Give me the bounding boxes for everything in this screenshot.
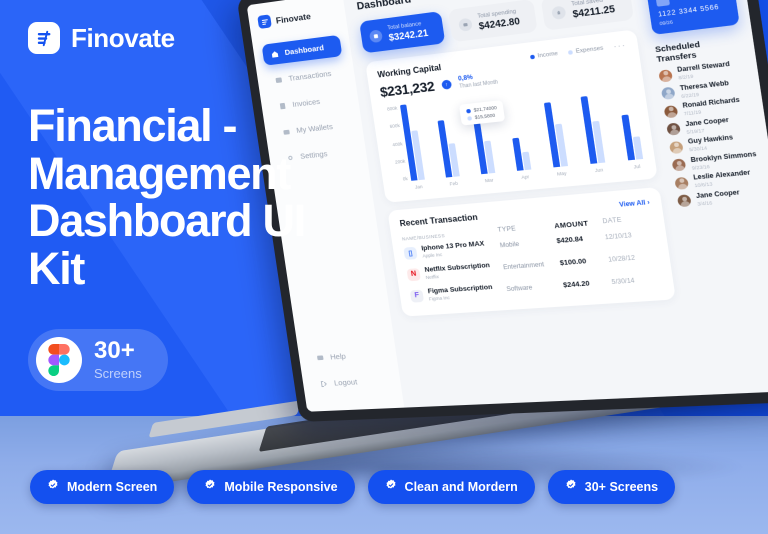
avatar [658,69,673,82]
tooltip-swatch [466,108,471,113]
y-tick: 400k [388,141,403,148]
feature-badge[interactable]: 30+ Screens [548,470,675,504]
chart-x-tick: Jan [415,184,423,190]
card-title: Working Capital [377,63,442,80]
view-all-label: View All [619,200,646,209]
chart-tooltip: $21,74000 $15,5800 [459,100,506,126]
list-item[interactable]: Jane Cooper 3/4/16 [677,187,766,208]
tooltip-row: $15,5800 [467,112,498,120]
list-item[interactable]: Guy Hawkins 5/30/14 [669,133,758,155]
dashboard-main: Dashboard [342,0,702,408]
chart-plot-area: $21,74000 $15,5800 Jan [400,79,645,191]
legend-label: Expenses [575,45,603,55]
spending-icon [458,17,473,31]
poster-stage: Finovate Dashboard Transa [0,0,768,534]
legend-item-expenses: Expenses [567,45,603,56]
card-title: Recent Transaction [399,212,478,228]
legend-swatch [530,54,535,59]
list-item[interactable]: Leslie Alexander 10/6/13 [674,169,763,190]
chart-x-tick: May [557,170,567,176]
brand-lockup: Finovate [28,22,358,54]
feature-badge-label: 30+ Screens [585,480,658,494]
feature-badge-label: Mobile Responsive [224,480,337,494]
chart-bar-group: Feb [435,100,460,178]
marketing-column: Finovate Financial - Management Dashboar… [28,22,358,391]
transaction-date: 5/30/14 [611,276,661,286]
netflix-icon: N [406,268,420,281]
feature-badge[interactable]: Mobile Responsive [187,470,354,504]
verified-badge-icon [385,478,397,496]
view-all-link[interactable]: View All › [619,199,650,208]
working-capital-amount: $231,232 [379,78,435,100]
avatar [669,140,684,153]
more-horizontal-icon[interactable]: ··· [613,40,627,51]
avatar [661,87,676,100]
finovate-logo-icon [28,22,60,54]
transaction-type: Mobile [500,238,558,249]
chart-bar-group: Apr [506,92,531,171]
verified-badge-icon [204,478,216,496]
feature-badge[interactable]: Clean and Mordern [368,470,535,504]
feature-badges: Modern Screen Mobile Responsive Clean an… [30,470,675,504]
trend-up-icon: ↑ [441,79,452,89]
chart-x-tick: Apr [521,174,529,180]
tooltip-swatch [467,116,472,121]
feature-badge-label: Modern Screen [67,480,157,494]
iphone-icon: ▯ [403,246,417,259]
avatar [677,194,692,207]
y-tick: 600k [385,123,400,130]
verified-badge-icon [47,478,59,496]
scheduled-transfers-list: Darrell Steward 8/2/19 Theresa Webb 6/22… [658,60,766,208]
transaction-type: Entertainment [503,260,561,270]
stat-card-total-saved[interactable]: Total saved $4211.25 [541,0,634,31]
figma-icon: F [410,289,424,302]
brand-name: Finovate [71,23,175,54]
avatar [672,158,687,171]
chart-bar-expenses [633,136,643,160]
y-tick: 0k [393,176,408,182]
screens-label: Screens [94,366,142,381]
screens-count: 30+ [94,339,142,363]
stat-card-total-balance[interactable]: Total balance $3242.21 [359,11,445,53]
transaction-amount: $420.84 [556,234,605,245]
working-capital-chart: 800k 600k 400k 200k 0k [382,79,644,192]
transaction-type: Software [506,283,564,293]
stat-card-total-spending[interactable]: Total spending $4242.80 [448,0,538,42]
transaction-date: 12/10/13 [604,231,654,241]
page-headline: Financial - Management Dashboard UI Kit [28,102,358,293]
page-title: Dashboard [356,0,412,13]
wallet-card[interactable]: Finovate | Universal 1122 3344 5566 09/2… [645,0,740,35]
card-chip-icon [656,0,670,7]
screens-count-pill: 30+ Screens [28,329,168,391]
scheduled-transfers-title: Scheduled Transfers [654,34,744,64]
chart-x-tick: Jul [633,164,640,170]
balance-icon [369,29,383,43]
chart-x-tick: Mar [485,177,494,183]
tooltip-value: $21,74000 [473,105,497,113]
avatar [666,122,681,135]
avatar [674,176,689,189]
y-tick: 200k [390,158,405,165]
chart-bar-group: Jun [579,83,605,163]
transaction-amount: $100.00 [559,256,608,267]
legend-swatch [568,50,573,55]
chart-bar-expenses [522,152,531,170]
list-item[interactable]: Brooklyn Simmons 9/23/16 [671,151,760,172]
y-tick: 800k [382,105,397,112]
legend-label: Income [537,50,558,59]
laptop-mockup: Finovate Dashboard Transa [300,0,768,462]
transaction-date: 10/28/12 [608,253,658,263]
transaction-amount: $244.20 [563,279,613,290]
recent-transaction-card: Recent Transaction View All › NAME/BUSIN… [387,187,676,317]
chart-x-tick: Feb [449,181,458,187]
feature-badge[interactable]: Modern Screen [30,470,174,504]
verified-badge-icon [565,478,577,496]
chart-bar-group: Jul [617,79,643,160]
saved-icon [551,5,566,19]
working-capital-card: Working Capital Income Expenses [365,29,658,202]
avatar [664,105,679,118]
legend-item-income: Income [530,50,559,60]
figma-icon [36,337,82,383]
chart-bar-group: May [542,88,568,168]
tooltip-value: $15,5800 [474,113,495,120]
feature-badge-label: Clean and Mordern [405,480,518,494]
chart-x-tick: Jun [595,167,604,173]
